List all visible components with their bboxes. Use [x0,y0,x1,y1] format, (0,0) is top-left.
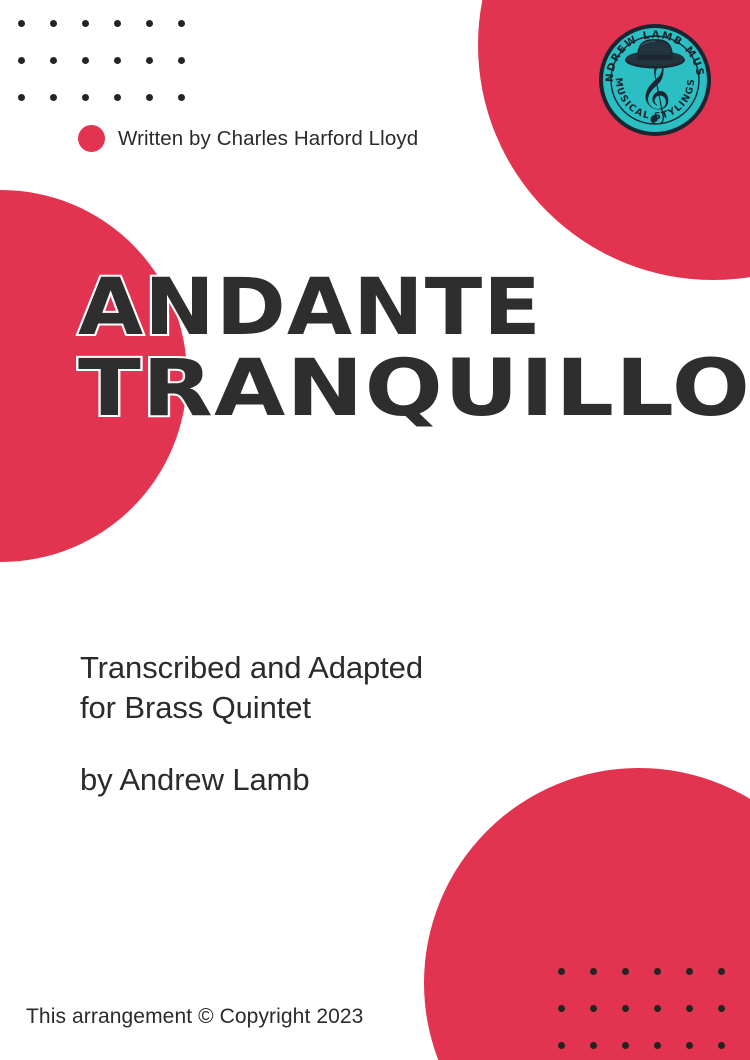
grid-dot [146,20,153,27]
grid-dot [114,94,121,101]
grid-dot [686,1005,693,1012]
grid-dot [718,968,725,975]
publisher-logo: ANDREW LAMB MUSIC MUSICAL STYLINGS 𝄞 [597,22,713,138]
title-line-1: ANDANTE [78,272,750,345]
grid-dot [558,1005,565,1012]
grid-dot [18,20,25,27]
treble-clef-icon: 𝄞 [639,59,671,125]
subtitle: Transcribed and Adapted for Brass Quinte… [80,648,620,729]
grid-dot [18,57,25,64]
grid-dot [590,1005,597,1012]
grid-dot [114,20,121,27]
grid-dot [178,94,185,101]
grid-dot [718,1042,725,1049]
grid-dot [558,1042,565,1049]
byline-text: Written by Charles Harford Lloyd [118,127,418,151]
grid-dot [114,57,121,64]
subtitle-line-2: for Brass Quintet [80,688,620,728]
grid-dot [686,1042,693,1049]
grid-dot [718,1005,725,1012]
grid-dot [654,968,661,975]
grid-dot [622,1042,629,1049]
grid-dot [622,968,629,975]
grid-dot [146,94,153,101]
svg-text:𝄞: 𝄞 [639,59,671,125]
grid-dot [82,20,89,27]
grid-dot [590,1042,597,1049]
grid-dot [82,94,89,101]
copyright-notice: This arrangement © Copyright 2023 [26,1005,363,1029]
grid-dot [590,968,597,975]
grid-dot [686,968,693,975]
grid-dot [50,20,57,27]
byline: Written by Charles Harford Lloyd [78,125,418,152]
grid-dot [50,94,57,101]
grid-dot [558,968,565,975]
grid-dot [654,1042,661,1049]
grid-dot [654,1005,661,1012]
byline-bullet-dot [78,125,105,152]
grid-dot [178,20,185,27]
dot-grid-top-left [18,20,210,131]
grid-dot [146,57,153,64]
page-title: ANDANTE TRANQUILLO [78,272,738,425]
grid-dot [178,57,185,64]
grid-dot [622,1005,629,1012]
grid-dot [18,94,25,101]
dot-grid-bottom-right [558,968,750,1060]
grid-dot [82,57,89,64]
subtitle-line-1: Transcribed and Adapted [80,648,620,688]
arranger-credit: by Andrew Lamb [80,762,310,798]
grid-dot [50,57,57,64]
title-line-2: TRANQUILLO [78,353,750,426]
cover-page: ANDREW LAMB MUSIC MUSICAL STYLINGS 𝄞 Wri [0,0,750,1060]
